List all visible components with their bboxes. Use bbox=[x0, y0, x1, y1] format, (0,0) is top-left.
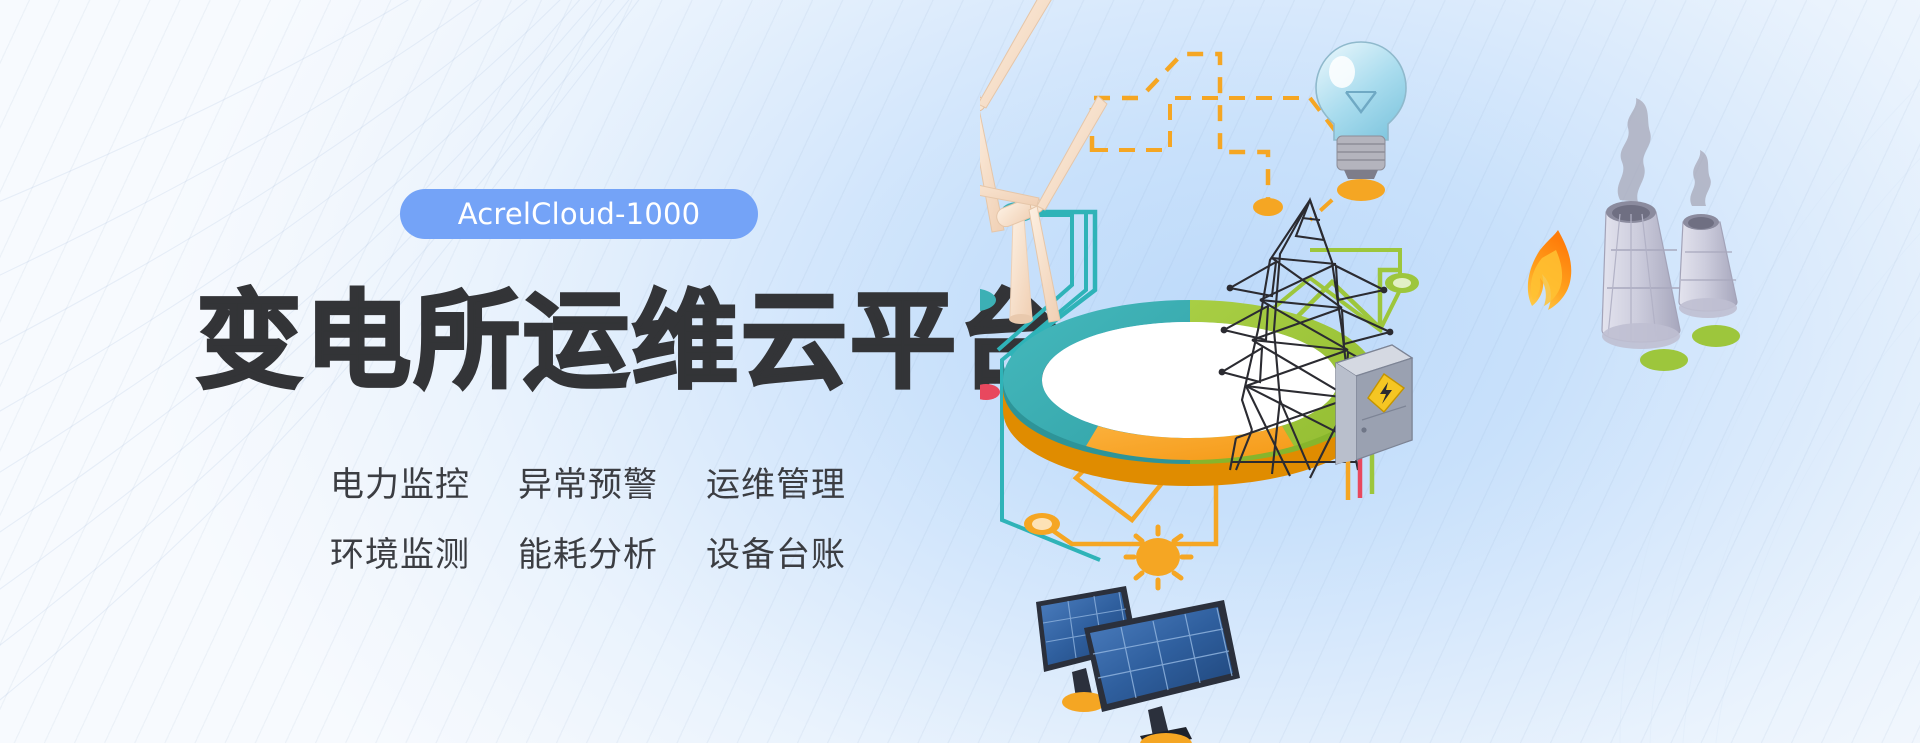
tower-shadow-1 bbox=[1640, 349, 1688, 371]
product-badge: AcrelCloud-1000 bbox=[400, 189, 758, 239]
feature-item: 运维管理 bbox=[706, 458, 846, 512]
cabinet-front bbox=[1336, 363, 1356, 464]
cooling-tower-large bbox=[1602, 201, 1683, 349]
energy-illustration bbox=[980, 0, 1920, 743]
tower-shadow-2 bbox=[1692, 325, 1740, 347]
orange-node-bottom-inner bbox=[1032, 518, 1052, 530]
flame-icon bbox=[1528, 230, 1571, 310]
cooling-tower-small bbox=[1679, 214, 1737, 318]
sun-icon bbox=[1126, 527, 1191, 588]
feature-item: 异常预警 bbox=[518, 458, 706, 512]
bulb-shadow bbox=[1337, 179, 1385, 201]
donut-inner-disc bbox=[1042, 322, 1338, 438]
green-node-inner bbox=[1393, 278, 1411, 288]
electrical-cabinet bbox=[1336, 345, 1412, 500]
feature-row: 电力监控 异常预警 运维管理 bbox=[330, 458, 950, 512]
feature-list: 电力监控 异常预警 运维管理 环境监测 能耗分析 设备台账 bbox=[330, 458, 950, 598]
cooling-towers bbox=[1602, 98, 1740, 371]
orange-node bbox=[1253, 198, 1283, 216]
hero-text-column: AcrelCloud-1000 变电所运维云平台 电力监控 异常预警 运维管理 … bbox=[0, 0, 1000, 743]
bulb-base bbox=[1337, 136, 1385, 179]
product-badge-label: AcrelCloud-1000 bbox=[458, 197, 701, 231]
page-title: 变电所运维云平台 bbox=[196, 286, 996, 398]
hero-banner: AcrelCloud-1000 变电所运维云平台 电力监控 异常预警 运维管理 … bbox=[0, 0, 1920, 743]
feature-item: 电力监控 bbox=[330, 458, 518, 512]
turbine-shadow-b bbox=[980, 288, 996, 312]
feature-item: 环境监测 bbox=[330, 528, 518, 582]
feature-row: 环境监测 能耗分析 设备台账 bbox=[330, 528, 950, 582]
illustration-svg bbox=[980, 0, 1920, 743]
feature-item: 设备台账 bbox=[706, 528, 846, 582]
bulb-highlight bbox=[1329, 56, 1355, 88]
solar-panel-group bbox=[1036, 527, 1240, 743]
smoke-plume bbox=[1618, 98, 1711, 206]
feature-item: 能耗分析 bbox=[518, 528, 706, 582]
